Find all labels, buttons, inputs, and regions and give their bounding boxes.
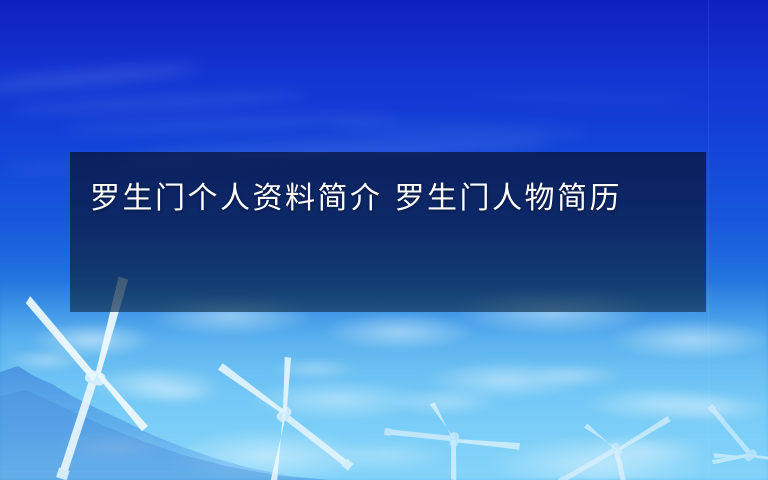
wind-turbine [390, 362, 522, 480]
sky-top-band [0, 0, 768, 70]
title-overlay-panel: 罗生门个人资料简介 罗生门人物简历 [70, 152, 706, 312]
wind-turbine [556, 375, 680, 480]
frame-seam [708, 0, 709, 480]
screenshot-root: 罗生门个人资料简介 罗生门人物简历 [0, 0, 768, 480]
wind-turbine [202, 320, 362, 480]
wind-turbine [692, 386, 768, 480]
page-title: 罗生门个人资料简介 罗生门人物简历 [90, 174, 690, 224]
